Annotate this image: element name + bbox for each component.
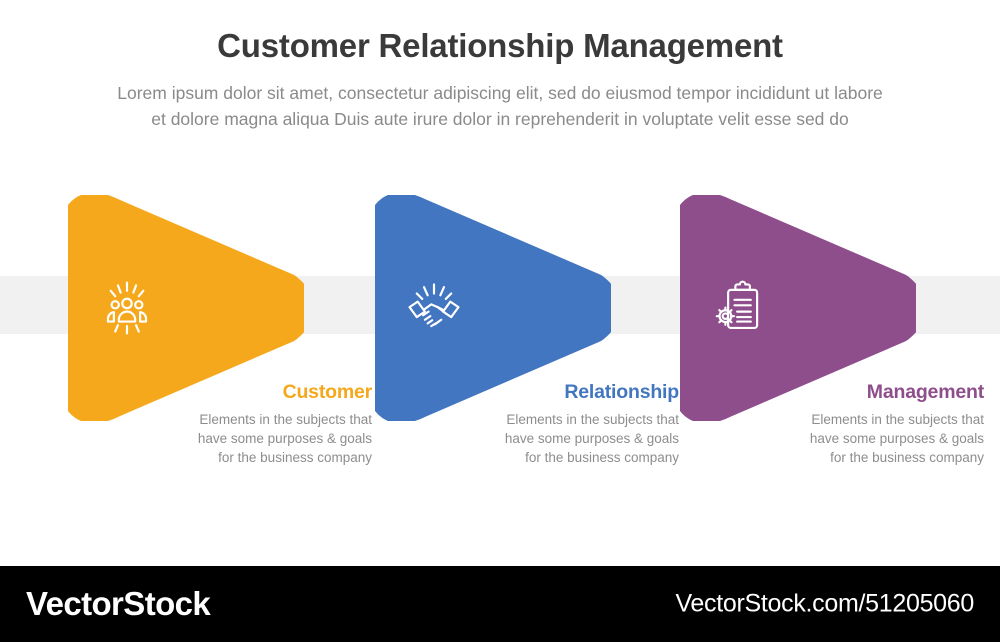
infographic-item-management[interactable]: Management Elements in the subjects that… bbox=[672, 195, 1000, 485]
item-description-management: Elements in the subjects that have some … bbox=[684, 410, 984, 467]
page-title: Customer Relationship Management bbox=[0, 26, 1000, 66]
desc-line-2: have some purposes & goals bbox=[684, 429, 984, 448]
vectorstock-logo: VectorStock bbox=[26, 585, 210, 623]
vectorstock-url: VectorStock.com/51205060 bbox=[675, 590, 974, 619]
desc-line-1: Elements in the subjects that bbox=[72, 410, 372, 429]
item-description-relationship: Elements in the subjects that have some … bbox=[379, 410, 679, 467]
people-group-icon bbox=[98, 279, 156, 337]
infographic-item-customer[interactable]: Customer Elements in the subjects that h… bbox=[60, 195, 390, 485]
item-heading-relationship: Relationship bbox=[379, 381, 679, 404]
item-description-customer: Elements in the subjects that have some … bbox=[72, 410, 372, 467]
desc-line-1: Elements in the subjects that bbox=[379, 410, 679, 429]
infographic-canvas: Customer Relationship Management Lorem i… bbox=[0, 0, 1000, 642]
watermark-footer: VectorStock VectorStock.com/51205060 bbox=[0, 566, 1000, 642]
item-heading-management: Management bbox=[684, 381, 984, 404]
infographic-item-relationship[interactable]: Relationship Elements in the subjects th… bbox=[367, 195, 697, 485]
desc-line-1: Elements in the subjects that bbox=[684, 410, 984, 429]
page-subtitle: Lorem ipsum dolor sit amet, consectetur … bbox=[50, 80, 950, 132]
desc-line-3: for the business company bbox=[684, 448, 984, 467]
clipboard-gear-icon bbox=[710, 279, 768, 337]
desc-line-3: for the business company bbox=[72, 448, 372, 467]
header-block: Customer Relationship Management Lorem i… bbox=[0, 0, 1000, 132]
handshake-icon bbox=[405, 279, 463, 337]
desc-line-3: for the business company bbox=[379, 448, 679, 467]
desc-line-2: have some purposes & goals bbox=[72, 429, 372, 448]
item-heading-customer: Customer bbox=[72, 381, 372, 404]
desc-line-2: have some purposes & goals bbox=[379, 429, 679, 448]
subtitle-line-1: Lorem ipsum dolor sit amet, consectetur … bbox=[50, 80, 950, 106]
subtitle-line-2: et dolore magna aliqua Duis aute irure d… bbox=[50, 106, 950, 132]
